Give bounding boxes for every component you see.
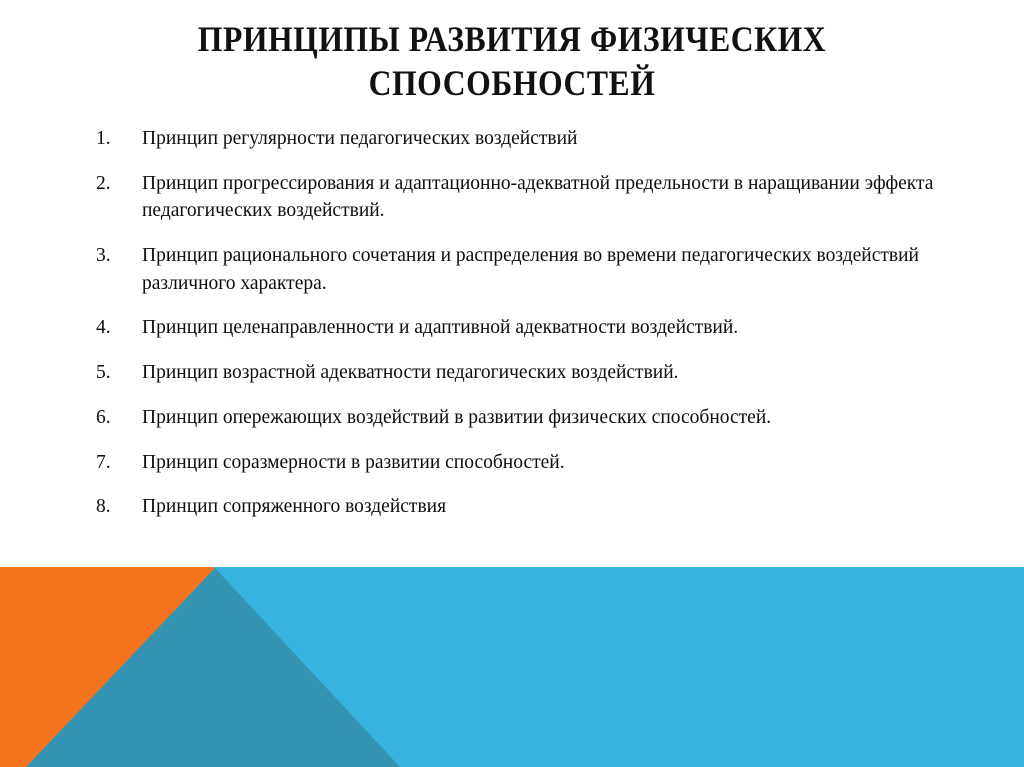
list-item: 2. Принцип прогрессирования и адаптацион… <box>96 170 948 225</box>
list-item: 6. Принцип опережающих воздействий в раз… <box>96 404 948 432</box>
slide-decoration-band <box>0 567 1024 767</box>
list-item-text: Принцип рационального сочетания и распре… <box>142 242 948 297</box>
list-item-text: Принцип регулярности педагогических возд… <box>142 125 948 153</box>
slide-title-block: ПРИНЦИПЫ РАЗВИТИЯ ФИЗИЧЕСКИХ СПОСОБНОСТЕ… <box>96 18 928 106</box>
list-item-number: 4. <box>96 314 126 342</box>
page-title: ПРИНЦИПЫ РАЗВИТИЯ ФИЗИЧЕСКИХ СПОСОБНОСТЕ… <box>146 18 878 106</box>
list-item-text: Принцип сопряженного воздействия <box>142 493 948 521</box>
list-item-text: Принцип целенаправленности и адаптивной … <box>142 314 948 342</box>
presentation-slide: ПРИНЦИПЫ РАЗВИТИЯ ФИЗИЧЕСКИХ СПОСОБНОСТЕ… <box>0 0 1024 767</box>
list-item-number: 5. <box>96 359 126 387</box>
list-item-number: 7. <box>96 449 126 477</box>
list-item: 8. Принцип сопряженного воздействия <box>96 493 948 521</box>
list-item-text: Принцип возрастной адекватности педагоги… <box>142 359 948 387</box>
list-item: 3. Принцип рационального сочетания и рас… <box>96 242 948 297</box>
list-item-number: 3. <box>96 242 126 270</box>
list-item-number: 8. <box>96 493 126 521</box>
teal-triangle-shape <box>26 568 400 767</box>
list-item-text: Принцип прогрессирования и адаптационно-… <box>142 170 948 225</box>
list-item: 1. Принцип регулярности педагогических в… <box>96 125 948 153</box>
list-item-number: 2. <box>96 170 126 198</box>
list-item-text: Принцип опережающих воздействий в развит… <box>142 404 948 432</box>
decoration-teal-triangle <box>0 567 1024 767</box>
list-item: 4. Принцип целенаправленности и адаптивн… <box>96 314 948 342</box>
list-item-text: Принцип соразмерности в развитии способн… <box>142 449 948 477</box>
list-item: 5. Принцип возрастной адекватности педаг… <box>96 359 948 387</box>
list-item-number: 1. <box>96 125 126 153</box>
list-item: 7. Принцип соразмерности в развитии спос… <box>96 449 948 477</box>
list-item-number: 6. <box>96 404 126 432</box>
principles-list: 1. Принцип регулярности педагогических в… <box>96 125 948 521</box>
